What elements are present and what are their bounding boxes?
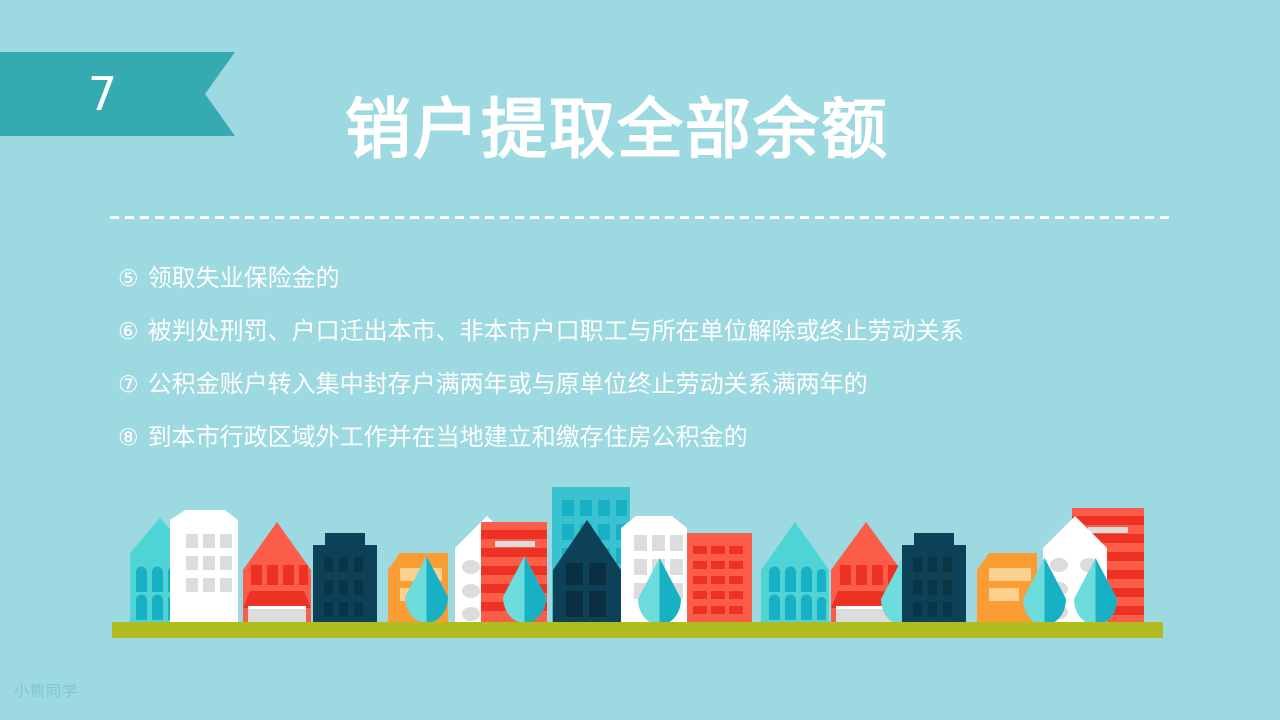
watermark: 小熊同学 xyxy=(14,680,78,701)
building-orange-15 xyxy=(977,553,1037,622)
list-item: ⑤领取失业保险金的 xyxy=(118,252,1238,305)
list-item-text: 领取失业保险金的 xyxy=(148,264,340,292)
building-navy-block-4 xyxy=(313,533,377,622)
tree xyxy=(1023,558,1066,630)
building-white-tall-2 xyxy=(170,510,238,622)
list-item-marker: ⑧ xyxy=(118,425,139,451)
tree xyxy=(503,556,546,630)
tree xyxy=(881,558,924,630)
list-item: ⑧到本市行政区域外工作并在当地建立和缴存住房公积金的 xyxy=(118,411,1238,464)
list-item-text: 到本市行政区域外工作并在当地建立和缴存住房公积金的 xyxy=(148,423,748,451)
slide-root: 7 销户提取全部余额 ⑤领取失业保险金的 ⑥被判处刑罚、户口迁出本市、非本市户口… xyxy=(0,0,1280,720)
ground-strip xyxy=(112,622,1163,638)
list-item-marker: ⑦ xyxy=(118,372,139,398)
building-orange-5 xyxy=(388,553,448,622)
tree xyxy=(638,558,681,630)
building-red-shop-13 xyxy=(831,522,901,622)
city-buildings xyxy=(130,487,1144,630)
list-item: ⑦公积金账户转入集中封存户满两年或与原单位终止劳动关系满两年的 xyxy=(118,358,1238,411)
tree xyxy=(405,556,448,630)
building-red-striped-16 xyxy=(1072,508,1144,622)
list-item-marker: ⑥ xyxy=(118,319,139,345)
building-white-oval-6 xyxy=(455,516,519,622)
list-item-marker: ⑤ xyxy=(118,266,139,292)
building-teal-house-12 xyxy=(761,522,829,622)
title-divider xyxy=(110,216,1170,219)
building-navy-house-9 xyxy=(553,520,621,622)
building-navy-block-14 xyxy=(902,533,966,622)
list-item-text: 公积金账户转入集中封存户满两年或与原单位终止劳动关系满两年的 xyxy=(148,370,868,398)
building-cyan-tower-8 xyxy=(552,487,630,622)
section-number-ribbon: 7 xyxy=(0,52,235,136)
building-red-shop-3 xyxy=(243,522,311,622)
section-number: 7 xyxy=(0,52,205,136)
content-list: ⑤领取失业保险金的 ⑥被判处刑罚、户口迁出本市、非本市户口职工与所在单位解除或终… xyxy=(118,252,1238,464)
building-white-grey-10 xyxy=(621,516,687,622)
building-white-oval-17 xyxy=(1043,516,1107,622)
building-teal-house-1 xyxy=(130,518,190,622)
list-item-text: 被判处刑罚、户口迁出本市、非本市户口职工与所在单位解除或终止劳动关系 xyxy=(148,317,964,345)
building-red-apartment-11 xyxy=(687,533,752,622)
page-title: 销户提取全部余额 xyxy=(345,97,889,163)
list-item: ⑥被判处刑罚、户口迁出本市、非本市户口职工与所在单位解除或终止劳动关系 xyxy=(118,305,1238,358)
tree xyxy=(1074,558,1117,630)
building-red-striped-7 xyxy=(481,522,547,622)
